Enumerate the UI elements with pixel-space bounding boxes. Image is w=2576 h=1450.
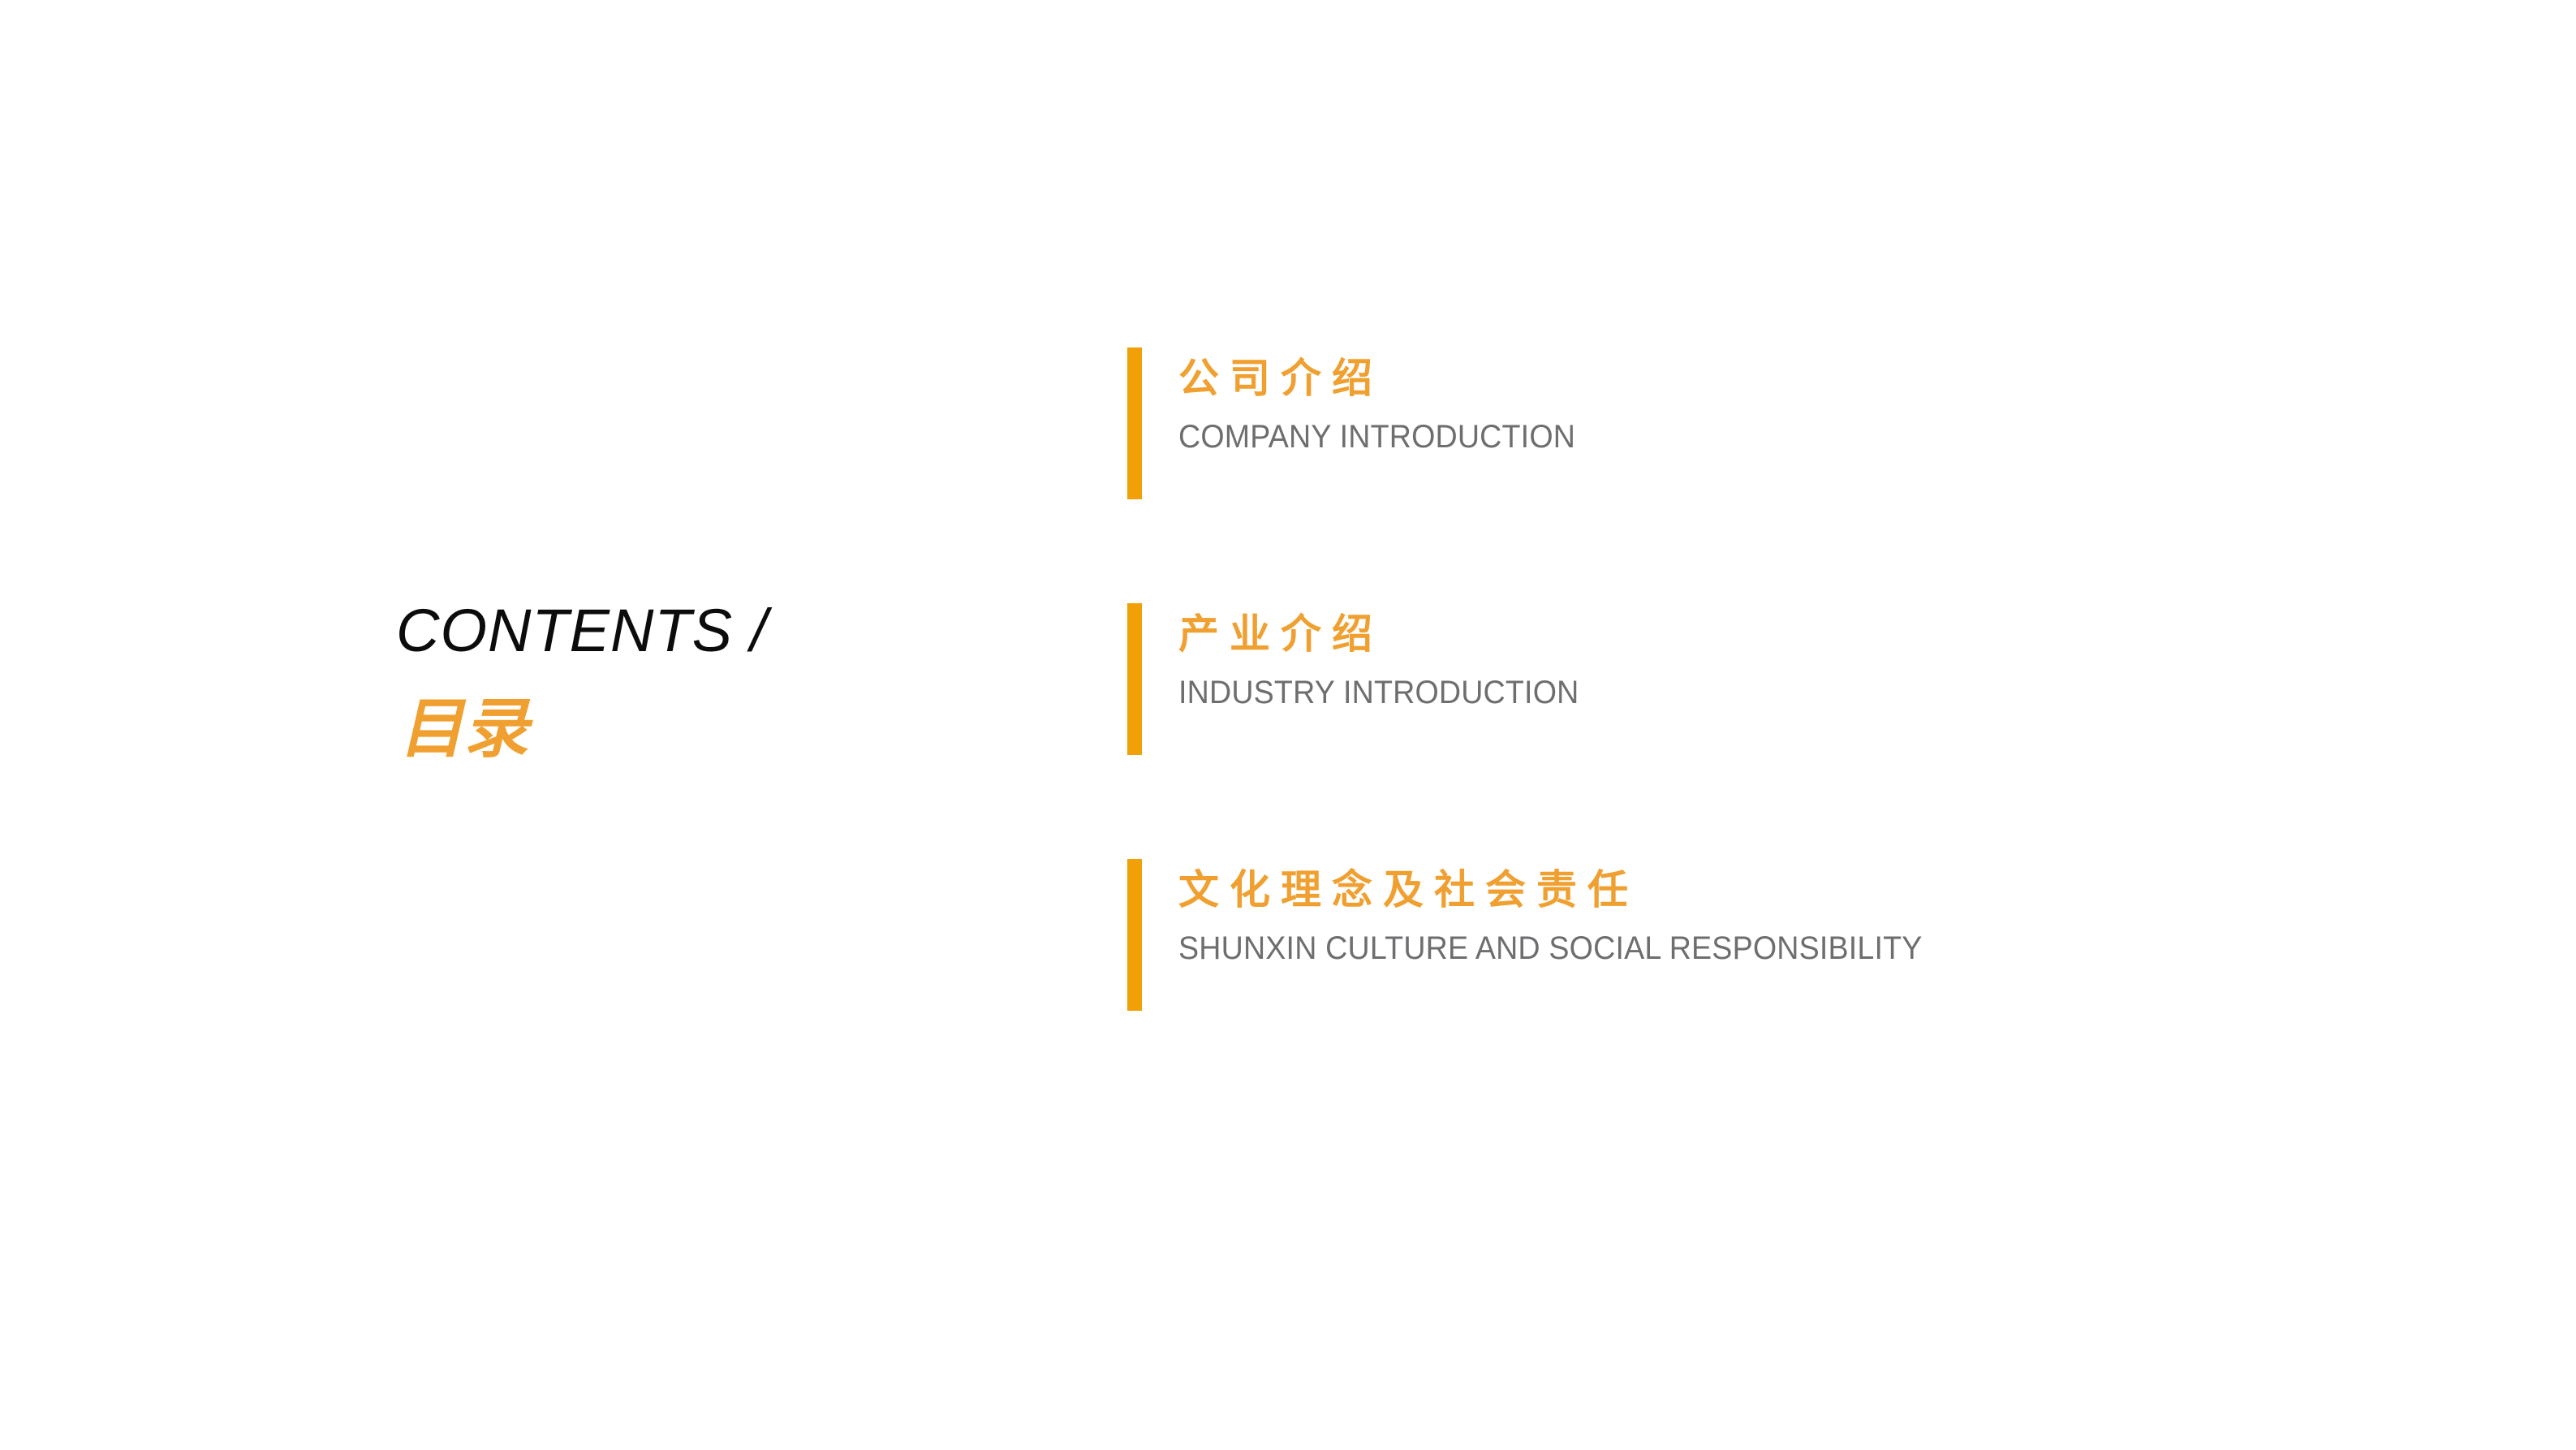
contents-item-subtitle: COMPANY INTRODUCTION	[1178, 403, 2427, 457]
contents-english-title: CONTENTS /	[396, 599, 1045, 662]
contents-item-title: 公司介绍	[1178, 344, 2507, 403]
contents-chinese-title: 目录	[396, 695, 541, 763]
contents-item-list: 公司介绍 COMPANY INTRODUCTION 产业介绍 INDUSTRY …	[1127, 344, 2507, 969]
contents-item-subtitle: INDUSTRY INTRODUCTION	[1178, 659, 2427, 713]
contents-item-industry-introduction[interactable]: 产业介绍 INDUSTRY INTRODUCTION	[1127, 600, 2507, 713]
accent-bar-icon	[1127, 859, 1142, 1011]
contents-item-company-introduction[interactable]: 公司介绍 COMPANY INTRODUCTION	[1127, 344, 2507, 457]
slide-title-group: CONTENTS / 目录	[396, 599, 1045, 763]
contents-slide: CONTENTS / 目录 公司介绍 COMPANY INTRODUCTION …	[0, 0, 2576, 1450]
accent-bar-icon	[1127, 347, 1142, 499]
contents-item-title: 产业介绍	[1178, 600, 2507, 659]
contents-item-subtitle: SHUNXIN CULTURE AND SOCIAL RESPONSIBILIT…	[1178, 915, 2427, 969]
accent-bar-icon	[1127, 603, 1142, 755]
contents-item-title: 文化理念及社会责任	[1178, 856, 2507, 915]
contents-item-culture-and-social-responsibility[interactable]: 文化理念及社会责任 SHUNXIN CULTURE AND SOCIAL RES…	[1127, 856, 2507, 969]
